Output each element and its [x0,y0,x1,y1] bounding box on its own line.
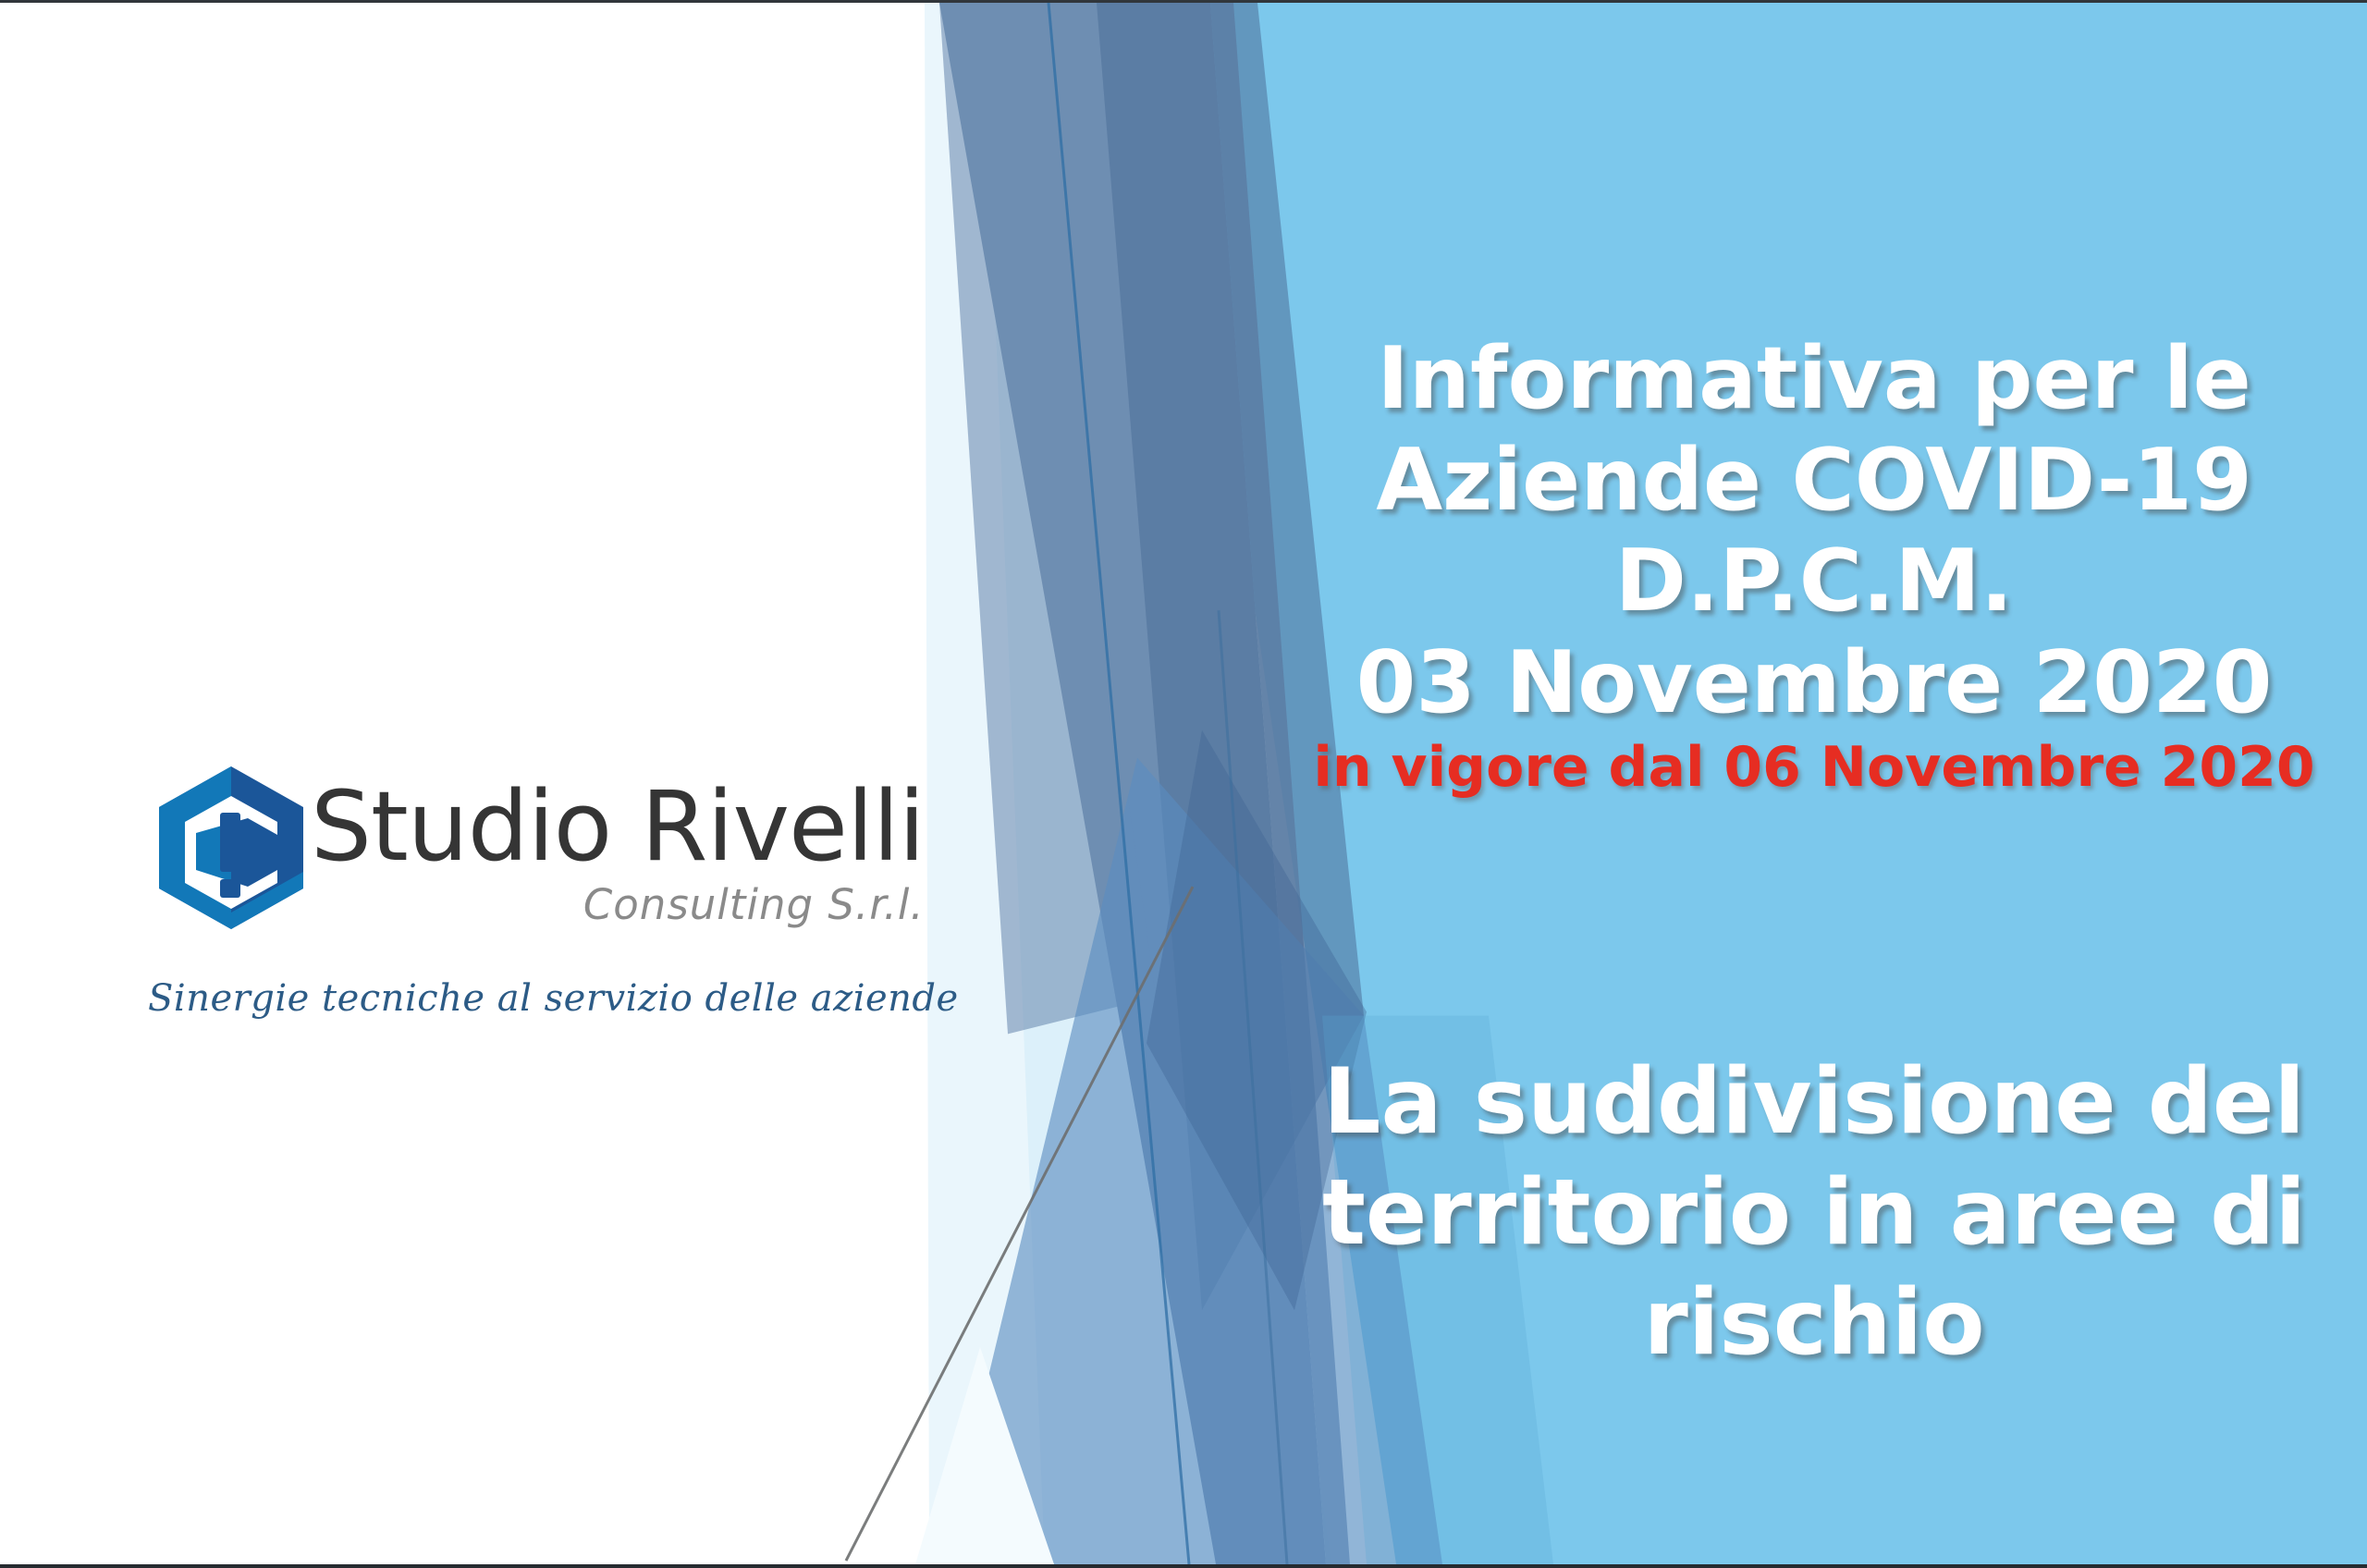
logo-row: Studio Rivelli Consulting S.r.l. [139,761,897,946]
subtitle-line-3: rischio [1278,1268,2350,1379]
logo-panel: Studio Rivelli Consulting S.r.l. Sinergi… [0,3,925,1568]
subtitle-line-1: La suddivisione del [1278,1047,2350,1158]
brand-logo: Studio Rivelli Consulting S.r.l. Sinergi… [139,761,897,1020]
slide-canvas: Studio Rivelli Consulting S.r.l. Sinergi… [0,0,2367,1568]
company-tagline: Sinergie tecniche al servizio delle azie… [148,977,897,1020]
company-name: Studio Rivelli [311,778,925,875]
slide-subtitle: La suddivisione del territorio in aree d… [1278,1047,2350,1379]
title-line-3: D.P.C.M. [1278,531,2350,632]
hexagon-c-exclamation-icon [139,761,324,946]
exclamation-stem [220,813,240,872]
wordmark: Studio Rivelli Consulting S.r.l. [311,778,925,929]
title-line-1: Informativa per le [1278,328,2350,430]
subtitle-line-2: territorio in aree di [1278,1158,2350,1269]
company-suffix: Consulting S.r.l. [311,880,925,929]
title-panel: Informativa per le Aziende COVID-19 D.P.… [1257,3,2367,1568]
effective-date-note: in vigore dal 06 Novembre 2020 [1278,736,2350,801]
title-line-4: 03 Novembre 2020 [1278,632,2350,734]
slide-title: Informativa per le Aziende COVID-19 D.P.… [1278,328,2350,801]
title-line-2: Aziende COVID-19 [1278,430,2350,532]
exclamation-dot [220,879,240,898]
